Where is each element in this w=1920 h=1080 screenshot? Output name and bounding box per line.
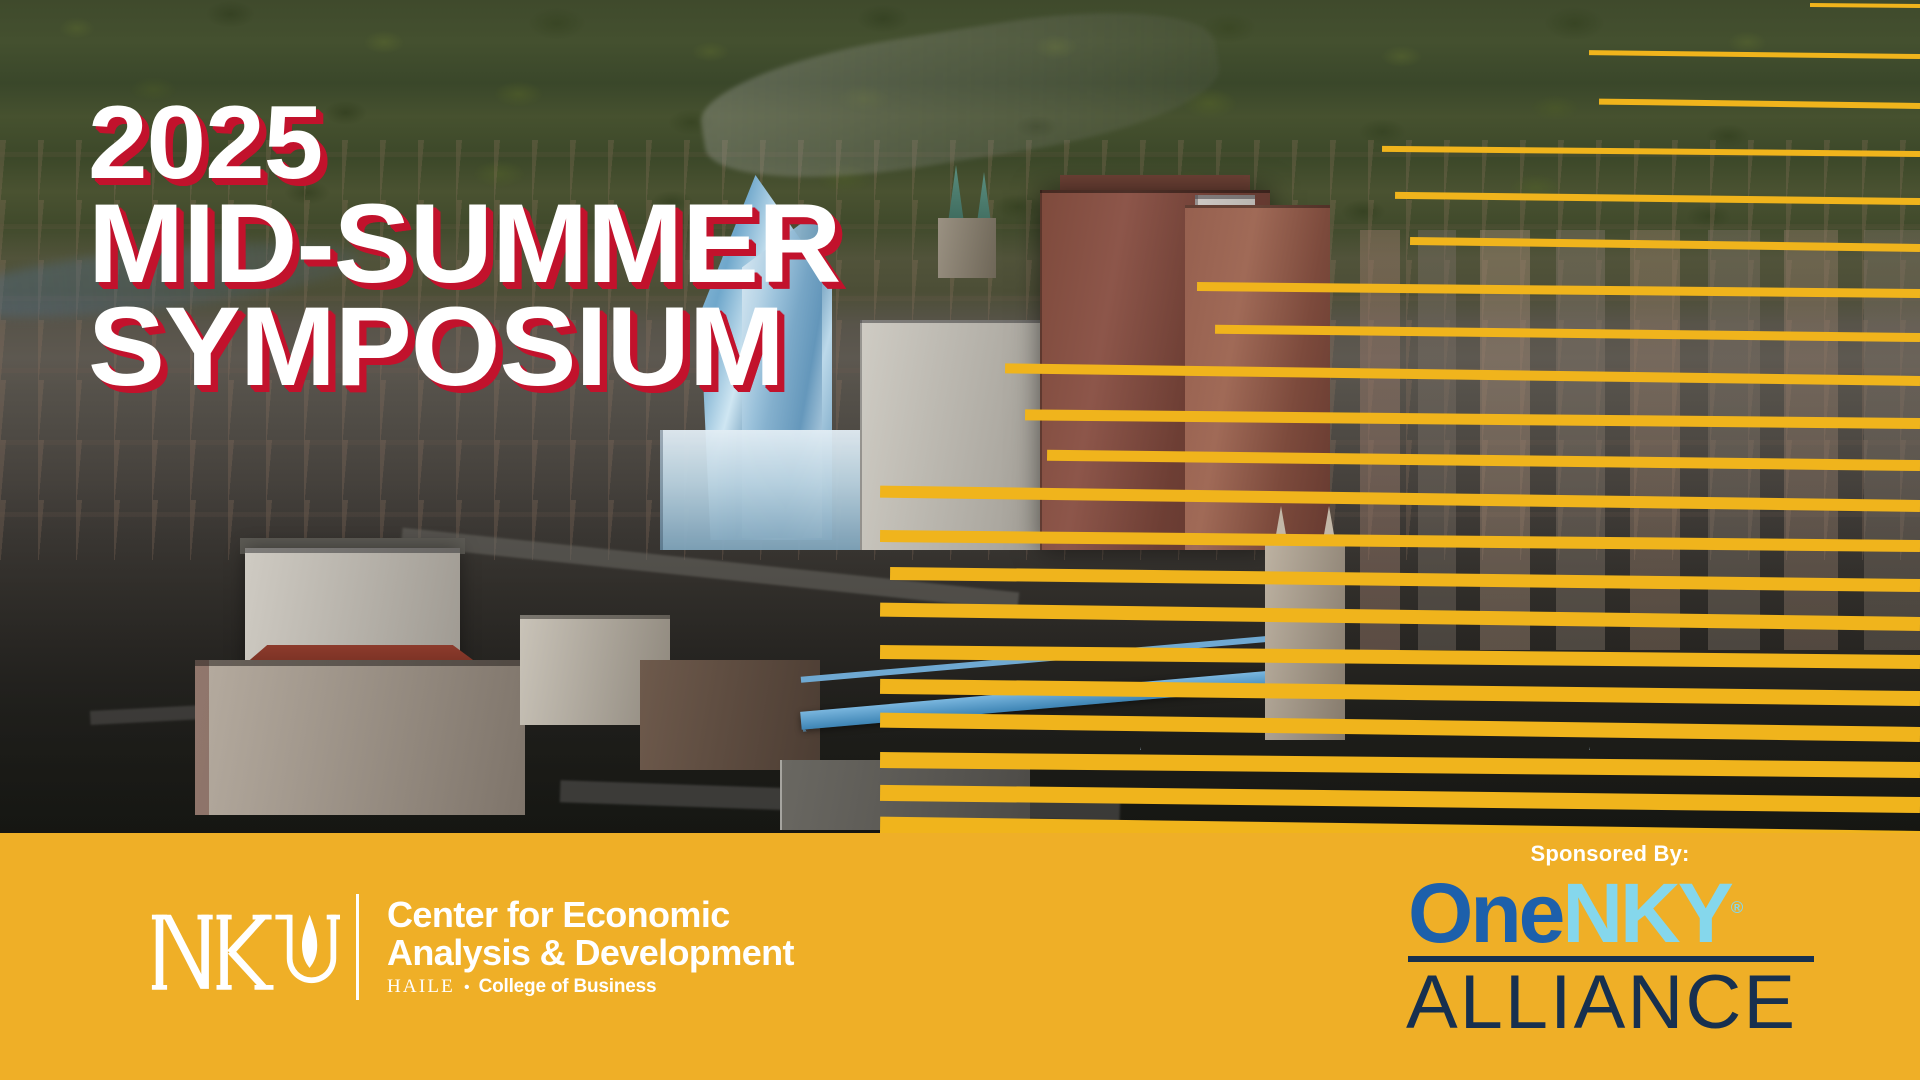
- bridge-stone-tower: [1265, 540, 1345, 740]
- event-poster: 2025 MID-SUMMER SYMPOSIUM: [0, 0, 1920, 1080]
- nku-flame-icon: [150, 893, 340, 1001]
- sponsored-by-label: Sponsored By:: [1400, 841, 1820, 867]
- alliance-wordmark: ALLIANCE: [1406, 964, 1828, 1042]
- church-body: [938, 218, 996, 278]
- warehouse-building: [640, 660, 820, 770]
- logo-divider: [356, 894, 359, 1000]
- midrise-block: [860, 320, 1050, 550]
- cead-title-line-1: Center for Economic: [387, 896, 794, 934]
- cead-title-line-2: Analysis & Development: [387, 934, 794, 972]
- bridge-cables-right: [1330, 560, 1590, 750]
- brick-tower-adjacent: [1185, 205, 1330, 550]
- glass-lowrise: [660, 430, 860, 550]
- parking-lot: [780, 760, 1030, 830]
- title-year: 2025: [88, 96, 840, 192]
- bullet-separator-icon: •: [464, 979, 470, 997]
- onenky-one-text: One: [1408, 866, 1562, 960]
- poster-title: 2025 MID-SUMMER SYMPOSIUM: [88, 96, 818, 398]
- cead-text-block: Center for Economic Analysis & Developme…: [387, 896, 794, 998]
- onenky-wordmark: OneNKY®: [1400, 873, 1820, 954]
- onenky-nky-text: NKY: [1562, 866, 1730, 960]
- haile-label: HAILE: [387, 976, 455, 998]
- foreground-apartment-lower: [195, 660, 525, 815]
- title-line-1: MID-SUMMER: [88, 192, 840, 295]
- title-line-2: SYMPOSIUM: [88, 295, 840, 398]
- college-of-business-label: College of Business: [479, 976, 657, 998]
- nku-logo-lockup: Center for Economic Analysis & Developme…: [150, 893, 794, 1001]
- sponsor-lockup: Sponsored By: OneNKY® ALLIANCE: [1400, 841, 1820, 1041]
- cead-subtitle: HAILE • College of Business: [387, 976, 794, 998]
- registered-trademark-icon: ®: [1731, 898, 1744, 917]
